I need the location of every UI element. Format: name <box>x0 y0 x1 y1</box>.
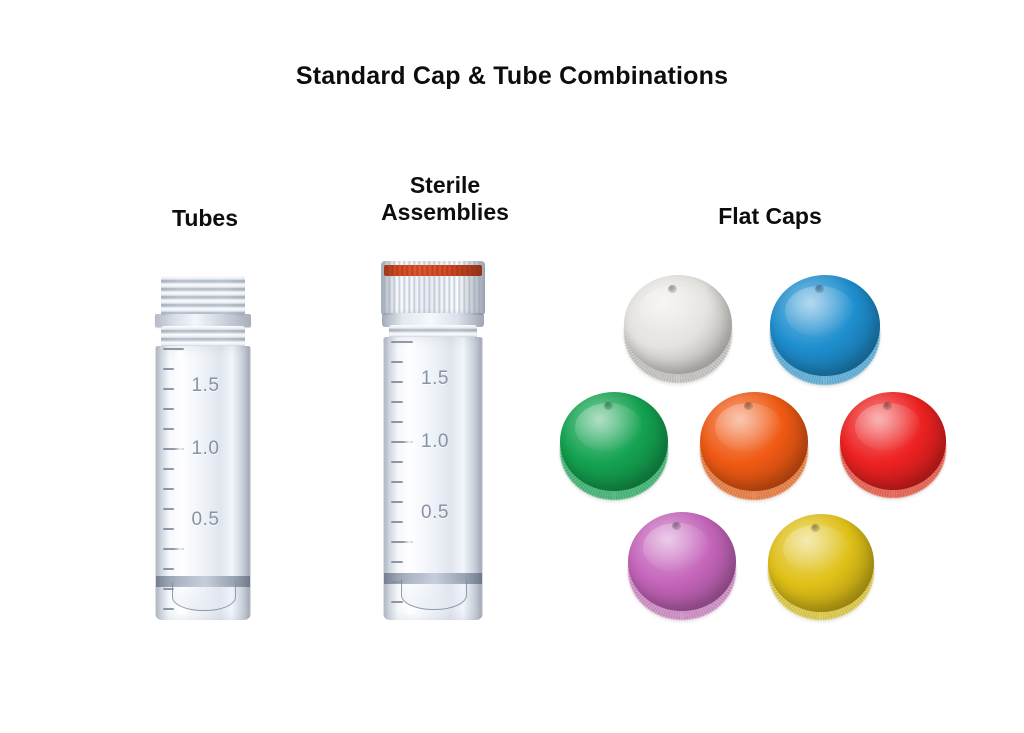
flat-cap-green <box>560 392 668 500</box>
graduation-label-1-5: 1.5 <box>421 368 449 390</box>
cap-top-surface <box>770 275 880 376</box>
cap-top-surface <box>628 512 736 611</box>
tube-thread-neck <box>161 276 245 316</box>
graduation-label-1-5: 1.5 <box>191 375 219 397</box>
page-title: Standard Cap & Tube Combinations <box>0 62 1024 91</box>
product-figure: Standard Cap & Tube Combinations Tubes S… <box>0 0 1024 733</box>
graduation-label-0-5: 0.5 <box>421 502 449 524</box>
sterile-cap <box>381 261 485 315</box>
cap-top-surface <box>624 275 732 374</box>
sterile-assembly-tube: 1.5 1.0 0.5 <box>383 261 483 620</box>
tube-conical-bottom <box>401 579 467 610</box>
flat-cap-natural <box>624 275 732 383</box>
graduation-label-0-5: 0.5 <box>191 509 219 531</box>
cap-top-surface <box>700 392 808 491</box>
flat-cap-violet <box>628 512 736 620</box>
section-label-sterile-assemblies: Sterile Assemblies <box>345 172 545 226</box>
cap-top-surface <box>768 514 874 612</box>
flat-cap-orange <box>700 392 808 500</box>
graduation-label-1-0: 1.0 <box>191 438 219 460</box>
tube-thread-lower <box>161 326 245 348</box>
cap-top-surface <box>840 392 946 490</box>
section-label-sterile-line2: Assemblies <box>345 199 545 226</box>
flat-cap-yellow <box>768 514 874 620</box>
section-label-tubes: Tubes <box>105 205 305 232</box>
flat-cap-red <box>840 392 946 498</box>
sterile-cap-color-band <box>384 265 482 276</box>
section-label-flat-caps: Flat Caps <box>665 203 875 230</box>
graduation-label-1-0: 1.0 <box>421 431 449 453</box>
flat-cap-blue <box>770 275 880 385</box>
cap-top-surface <box>560 392 668 491</box>
screw-cap-tube: 1.5 1.0 0.5 <box>155 276 251 620</box>
tube-conical-bottom <box>172 582 235 611</box>
section-label-sterile-line1: Sterile <box>345 172 545 199</box>
